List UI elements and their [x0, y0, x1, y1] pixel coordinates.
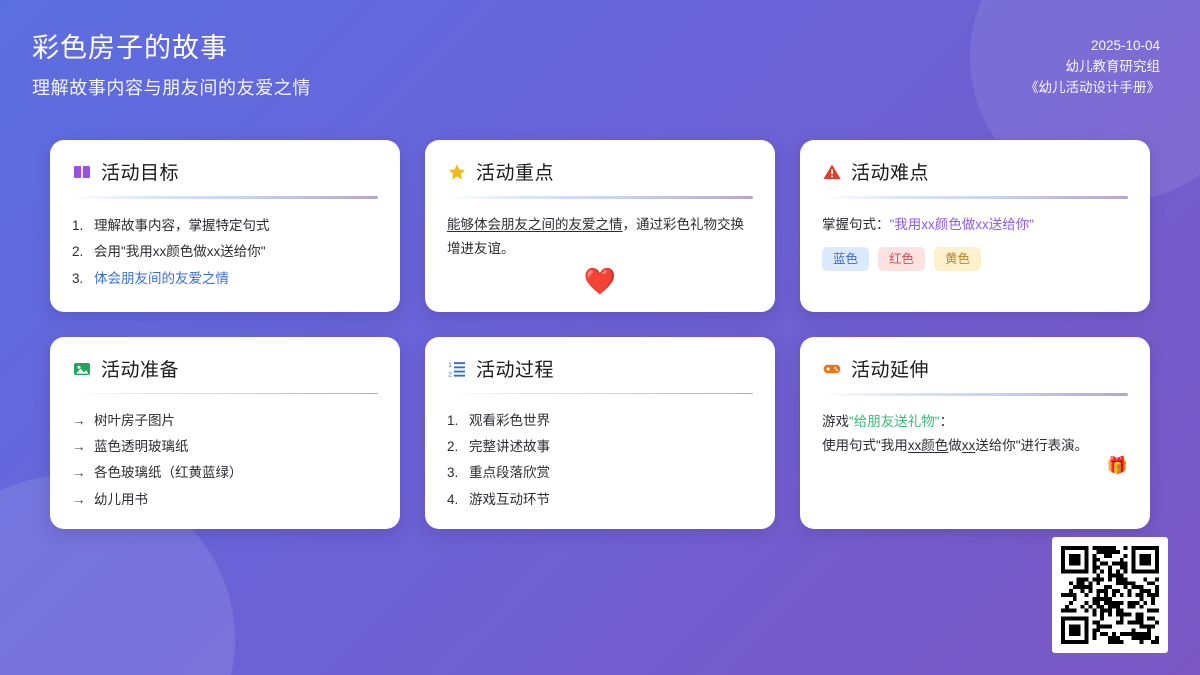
card-process[interactable]: 1 2 活动过程 观看彩色世界 完整讲述故事 重点段落欣赏 游戏互动环节 [425, 337, 775, 529]
card-divider [447, 393, 753, 394]
extension-colon: ： [940, 414, 954, 429]
extension-sentence-tail: 送给你"进行表演。 [975, 438, 1088, 453]
header-date: 2025-10-04 [1025, 36, 1160, 57]
key-point-emphasis: 能够体会朋友之间的友爱之情 [447, 217, 623, 232]
header-source: 《幼儿活动设计手册》 [1025, 78, 1160, 99]
image-icon [72, 359, 92, 379]
card-header: 1 2 活动过程 [447, 355, 753, 382]
card-divider [447, 196, 753, 199]
header-organization: 幼儿教育研究组 [1025, 57, 1160, 78]
card-title: 活动难点 [851, 158, 929, 185]
extension-sentence-mid: 做 [948, 438, 962, 453]
list-item: 树叶房子图片 [72, 408, 378, 434]
card-divider [822, 393, 1128, 396]
tag-red[interactable]: 红色 [878, 247, 925, 271]
warning-icon [822, 162, 842, 182]
list-item: 各色玻璃纸（红黄蓝绿） [72, 460, 378, 486]
list-item: 会用"我用xx颜色做xx送给你" [72, 239, 378, 265]
list-item: 重点段落欣赏 [447, 460, 753, 486]
qr-code-container[interactable] [1052, 537, 1168, 653]
tag-blue[interactable]: 蓝色 [822, 247, 869, 271]
card-title: 活动过程 [476, 355, 554, 382]
card-objectives[interactable]: 活动目标 理解故事内容，掌握特定句式 会用"我用xx颜色做xx送给你" 体会朋友… [50, 140, 400, 312]
list-item: 观看彩色世界 [447, 408, 753, 434]
tag-yellow[interactable]: 黄色 [934, 247, 981, 271]
difficulty-quote: "我用xx颜色做xx送给你" [890, 217, 1035, 232]
list-item: 理解故事内容，掌握特定句式 [72, 213, 378, 239]
svg-text:2: 2 [448, 371, 452, 378]
card-header: 活动准备 [72, 355, 378, 382]
star-icon [447, 162, 467, 182]
extension-game-name: "给朋友送礼物" [849, 414, 940, 429]
extension-underline-1: xx颜色 [908, 438, 949, 453]
header-title-group: 彩色房子的故事 理解故事内容与朋友间的友爱之情 [32, 26, 311, 100]
list-item: 游戏互动环节 [447, 487, 753, 513]
card-body: 树叶房子图片 蓝色透明玻璃纸 各色玻璃纸（红黄蓝绿） 幼儿用书 [72, 408, 378, 513]
card-body: 理解故事内容，掌握特定句式 会用"我用xx颜色做xx送给你" 体会朋友间的友爱之… [72, 213, 378, 292]
slide-header: 彩色房子的故事 理解故事内容与朋友间的友爱之情 2025-10-04 幼儿教育研… [0, 0, 1200, 130]
card-title: 活动延伸 [851, 355, 929, 382]
process-list: 观看彩色世界 完整讲述故事 重点段落欣赏 游戏互动环节 [447, 408, 753, 513]
page-title: 彩色房子的故事 [32, 30, 311, 66]
color-tag-group: 蓝色 红色 黄色 [822, 247, 1128, 271]
cards-grid: 活动目标 理解故事内容，掌握特定句式 会用"我用xx颜色做xx送给你" 体会朋友… [0, 130, 1200, 529]
extension-underline-2: xx [962, 438, 976, 453]
extension-lead: 游戏 [822, 414, 849, 429]
difficulty-text: 掌握句式："我用xx颜色做xx送给你" [822, 213, 1128, 237]
card-header: 活动延伸 [822, 355, 1128, 382]
card-title: 活动目标 [101, 158, 179, 185]
book-icon [72, 162, 92, 182]
key-point-text: 能够体会朋友之间的友爱之情，通过彩色礼物交换增进友谊。 [447, 213, 753, 260]
card-divider [72, 393, 378, 394]
card-body: 观看彩色世界 完整讲述故事 重点段落欣赏 游戏互动环节 [447, 408, 753, 513]
card-header: 活动目标 [72, 158, 378, 185]
card-divider [822, 196, 1128, 199]
gamepad-icon [822, 359, 842, 379]
numbered-list-icon: 1 2 [447, 359, 467, 379]
card-body: 能够体会朋友之间的友爱之情，通过彩色礼物交换增进友谊。 ❤️ [447, 213, 753, 294]
qr-code-image [1061, 546, 1159, 644]
card-title: 活动重点 [476, 158, 554, 185]
card-body: 掌握句式："我用xx颜色做xx送给你" 蓝色 红色 黄色 [822, 213, 1128, 271]
card-preparation[interactable]: 活动准备 树叶房子图片 蓝色透明玻璃纸 各色玻璃纸（红黄蓝绿） 幼儿用书 [50, 337, 400, 529]
card-header: 活动难点 [822, 158, 1128, 185]
card-divider [72, 196, 378, 199]
list-item: 体会朋友间的友爱之情 [72, 266, 378, 292]
extension-sentence-lead: 使用句式"我用 [822, 438, 908, 453]
list-item: 蓝色透明玻璃纸 [72, 434, 378, 460]
list-item: 完整讲述故事 [447, 434, 753, 460]
objectives-list: 理解故事内容，掌握特定句式 会用"我用xx颜色做xx送给你" 体会朋友间的友爱之… [72, 213, 378, 292]
page-subtitle: 理解故事内容与朋友间的友爱之情 [32, 74, 311, 100]
extension-line-1: 游戏"给朋友送礼物"： [822, 410, 1128, 434]
slide-page: 彩色房子的故事 理解故事内容与朋友间的友爱之情 2025-10-04 幼儿教育研… [0, 0, 1200, 675]
card-header: 活动重点 [447, 158, 753, 185]
card-key-points[interactable]: 活动重点 能够体会朋友之间的友爱之情，通过彩色礼物交换增进友谊。 ❤️ [425, 140, 775, 312]
heart-icon: ❤️ [447, 268, 753, 294]
preparation-list: 树叶房子图片 蓝色透明玻璃纸 各色玻璃纸（红黄蓝绿） 幼儿用书 [72, 408, 378, 513]
difficulty-lead: 掌握句式： [822, 217, 890, 232]
extension-line-2: 使用句式"我用xx颜色做xx送给你"进行表演。 [822, 434, 1128, 458]
header-meta: 2025-10-04 幼儿教育研究组 《幼儿活动设计手册》 [1025, 26, 1160, 99]
gift-icon: 🎁 [822, 457, 1128, 474]
card-extension[interactable]: 活动延伸 游戏"给朋友送礼物"： 使用句式"我用xx颜色做xx送给你"进行表演。… [800, 337, 1150, 529]
card-difficulties[interactable]: 活动难点 掌握句式："我用xx颜色做xx送给你" 蓝色 红色 黄色 [800, 140, 1150, 312]
card-body: 游戏"给朋友送礼物"： 使用句式"我用xx颜色做xx送给你"进行表演。 🎁 [822, 410, 1128, 474]
list-item: 幼儿用书 [72, 487, 378, 513]
card-title: 活动准备 [101, 355, 179, 382]
svg-text:1: 1 [448, 362, 452, 369]
